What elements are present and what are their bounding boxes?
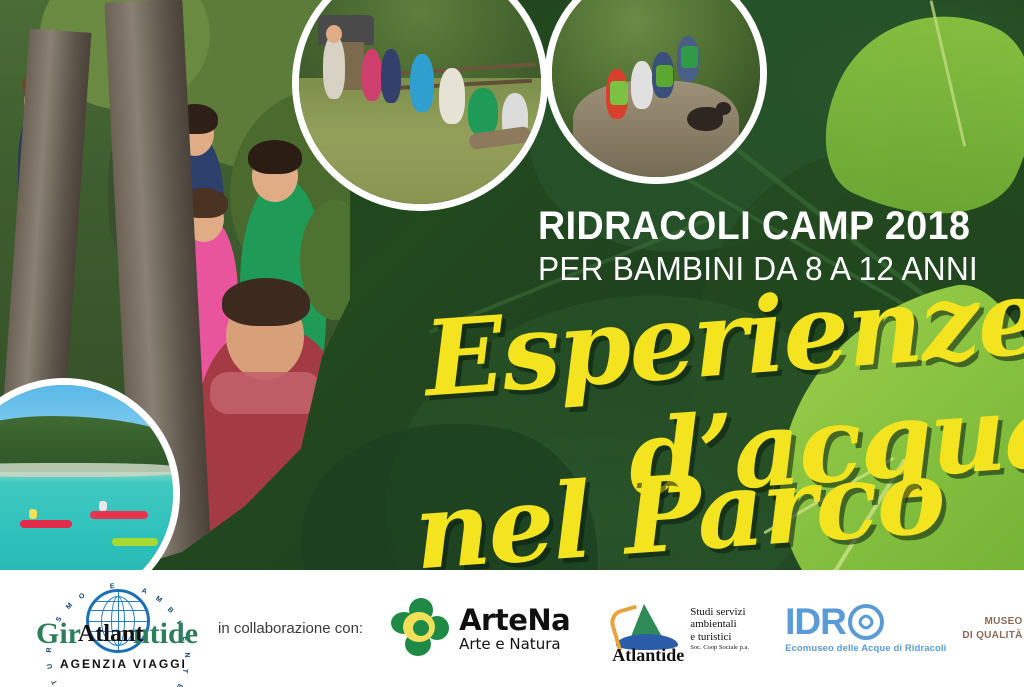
atlantide-line-2: ambientali — [690, 618, 749, 630]
leaf-vein-icon — [930, 0, 967, 147]
poster-root: RIDRACOLI CAMP 2018 PER BAMBINI DA 8 A 1… — [0, 0, 1024, 687]
atlantide-legal: Soc. Coop Sociale p.a. — [690, 644, 749, 651]
sponsor-footer-bar: TURISMO E AMBIENTE Girntide Atlant AGENZ… — [0, 570, 1024, 687]
logo-atlantide-studi[interactable]: Atlantide Studi servizi ambientali e tur… — [610, 600, 749, 658]
logo-girantide-tagline: AGENZIA VIAGGI — [60, 657, 187, 671]
logo-idro-name: IDR — [785, 603, 846, 640]
atlantide-line-3: e turistici — [690, 631, 749, 643]
logo-girantide[interactable]: TURISMO E AMBIENTE Girntide Atlant AGENZ… — [36, 581, 196, 677]
logo-artena-name: ArteNa — [459, 606, 570, 635]
logo-artena-tagline: Arte e Natura — [459, 637, 570, 652]
atlantide-mark-icon: Atlantide — [610, 600, 684, 658]
logo-atlantide-studi-name: Atlantide — [612, 645, 684, 666]
logo-artena[interactable]: ArteNa Arte e Natura — [389, 598, 570, 660]
logo-idro-subtitle: Ecomuseo delle Acque di Ridracoli — [785, 643, 946, 654]
photo-forest-hike — [545, 0, 767, 184]
museo-label-line-1: MUSEO — [962, 615, 1022, 629]
logo-atlantide-word: Atlant — [78, 621, 143, 648]
atlantide-line-1: Studi servizi — [690, 606, 749, 618]
museo-label-line-2: DI QUALITÀ — [962, 629, 1022, 643]
page-title: RIDRACOLI CAMP 2018 — [538, 204, 970, 249]
logo-museo-di-qualita[interactable]: MUSEO DI QUALITÀ “MUSEO DI QUALITÀ” È RI… — [962, 600, 1024, 658]
logo-idro[interactable]: IDR Ecomuseo delle Acque di Ridracoli — [785, 603, 946, 654]
photo-tug-of-war — [292, 0, 548, 211]
idro-ring-icon — [848, 604, 884, 640]
artena-swirl-icon — [389, 598, 451, 660]
logo-girantide-head: Gir — [36, 617, 81, 650]
collaboration-label: in collaborazione con: — [218, 620, 363, 637]
